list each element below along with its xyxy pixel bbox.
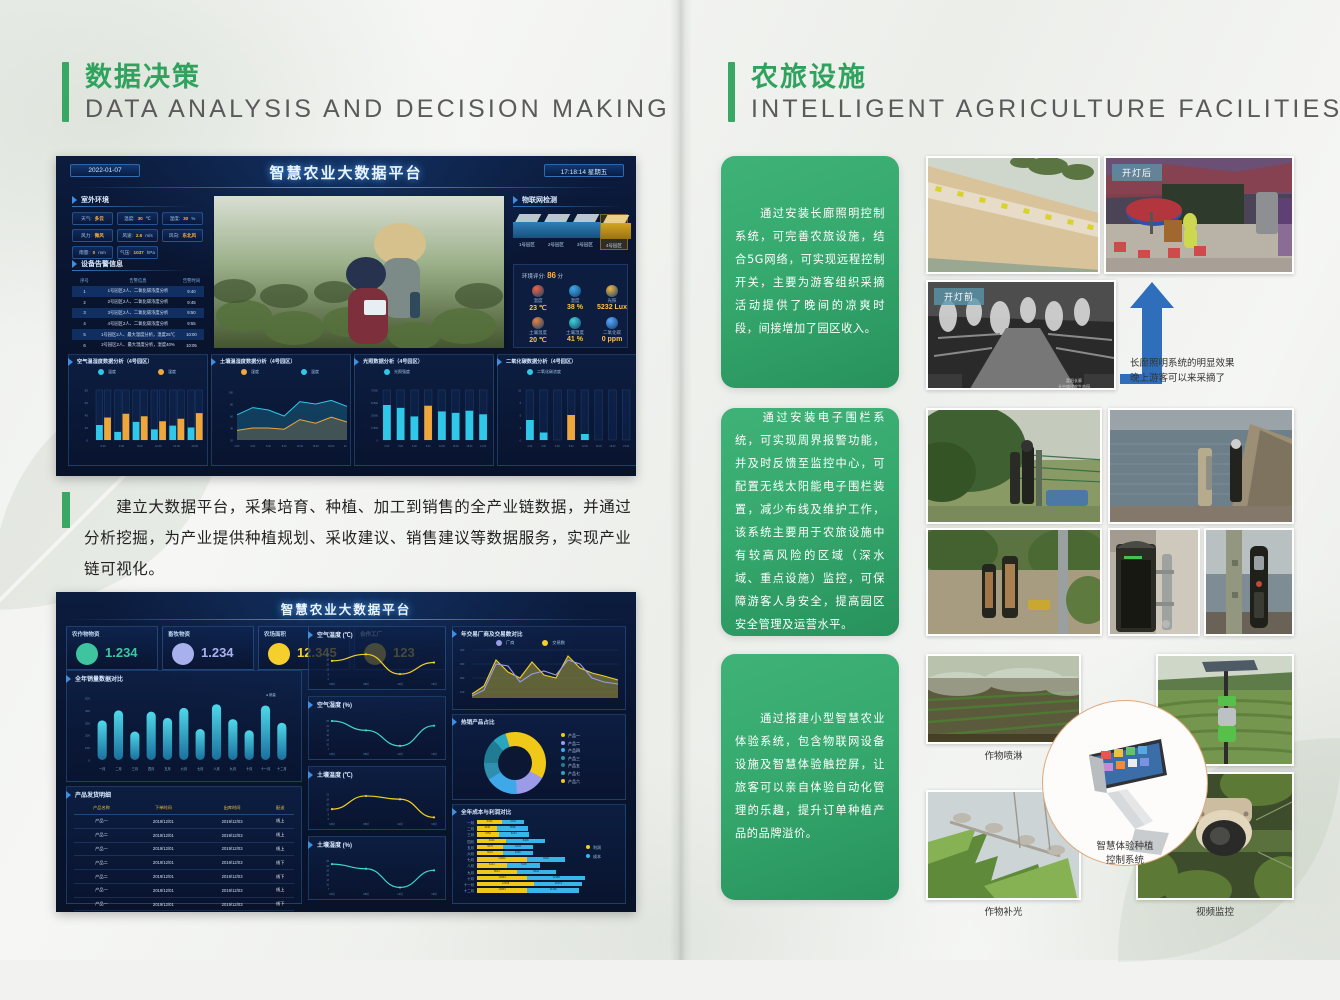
device-cube-icon <box>601 215 631 241</box>
legend-cost: 成本 <box>586 853 601 862</box>
legend-profit: 利润 <box>586 844 601 853</box>
livestock-icon <box>172 643 194 665</box>
detail-cell: 2019/12/01 <box>129 842 198 856</box>
accent-bar-right <box>728 62 735 122</box>
alarm-cell: 6 <box>72 340 97 351</box>
svg-text:18:00: 18:00 <box>328 445 335 448</box>
table-row[interactable]: 44号园区2人、二氧化碳浓度分析9:55 <box>72 318 204 329</box>
chart-svg-3: 0175003500052500700000:003:006:009:0012:… <box>358 378 490 456</box>
svg-text:9: 9 <box>328 673 330 676</box>
chart-legend-2: 湿度温度 <box>241 369 319 375</box>
env-score-value: 86 <box>547 271 556 280</box>
photo-fence-solar <box>926 528 1102 636</box>
svg-text:五月: 五月 <box>164 767 170 771</box>
svg-text:60: 60 <box>230 415 233 419</box>
cp-cost-bar: 12488 <box>527 876 585 880</box>
panel-title-vendors: 年交易厂商及交易数对比 <box>461 630 523 638</box>
alarm-cell: 4号园区2人、二氧化碳浓度分析 <box>97 318 179 329</box>
kpi-value: 1.234 <box>105 645 138 660</box>
outdoor-env-item: 温度:30℃ <box>117 212 158 225</box>
svg-text:4:00: 4:00 <box>119 444 125 448</box>
cp-category-label: 九月 <box>456 870 474 875</box>
cp-category-label: 十一月 <box>456 882 474 887</box>
farm-icon <box>268 643 290 665</box>
svg-text:15: 15 <box>326 803 329 806</box>
iot-device-1[interactable]: 1号园区 <box>513 214 541 248</box>
cp-profit-bar: 8614 <box>477 870 517 874</box>
svg-text:6:00: 6:00 <box>266 445 271 448</box>
detail-cell: 2019/12/01 <box>129 870 198 884</box>
svg-text:长中盛代农生态园: 长中盛代农生态园 <box>1058 383 1090 389</box>
table-row[interactable]: 产品一2019/12/012019/12/03线上 <box>74 842 294 856</box>
env-metric: 温度 23 ℃ <box>520 285 556 312</box>
svg-text:08时: 08时 <box>363 752 369 756</box>
detail-cell: 产品一 <box>74 897 129 911</box>
device-cube-icon <box>542 214 572 240</box>
svg-text:04时: 04时 <box>329 752 335 756</box>
svg-text:十月: 十月 <box>246 766 252 771</box>
paragraph-accent-bar <box>62 492 70 528</box>
iot-device-2[interactable]: 2号园区 <box>542 214 570 248</box>
svg-text:0:00: 0:00 <box>235 445 240 448</box>
svg-text:3:00: 3:00 <box>398 445 403 448</box>
env-metric-icon <box>569 285 581 297</box>
iot-device-3[interactable]: 3号园区 <box>571 214 599 248</box>
env-unit: % <box>191 216 195 221</box>
section-title-en: DATA ANALYSIS AND DECISION MAKING <box>85 93 670 127</box>
env-metric-value: 38 % <box>557 304 593 311</box>
svg-text:80: 80 <box>230 403 233 407</box>
outdoor-env-item: 湿度:30% <box>162 212 203 225</box>
env-value: 多云 <box>95 216 104 222</box>
facility-card-lighting-text: 通过安装长廊照明控制系统，可完善农旅设施，结合5G网络，可实现远程控制开关，主要… <box>735 203 885 341</box>
sales-chart-svg: 0100200300400500一月二月三月四月五月六月七月八月九月十月十一月十… <box>70 686 298 780</box>
left-paragraph-text: 建立大数据平台，采集培育、种植、加工到销售的全产业链数据，并通过分析挖掘，为产业… <box>84 492 637 585</box>
caption-kiosk-line2: 控制系统 <box>1045 854 1205 868</box>
svg-text:100: 100 <box>85 746 90 750</box>
dashboard-1[interactable]: 智慧农业大数据平台 2022-01-07 17:18:14 星期五 室外环境 天… <box>56 156 636 476</box>
donut-legend-item: 产品一 <box>561 732 580 740</box>
detail-cell: 2019/12/03 <box>198 856 267 870</box>
lighting-caption-line1: 长廊照明系统的明显效果 <box>1130 356 1310 371</box>
alarm-cell: 2 <box>72 297 97 308</box>
alarm-cell: 10:00 <box>179 329 204 340</box>
vendors-area-chart: 400300200100 <box>456 642 622 708</box>
svg-text:富阳长廊: 富阳长廊 <box>1066 377 1082 383</box>
detail-cell: 产品一 <box>74 842 129 856</box>
kpi-value: 1.234 <box>201 645 234 660</box>
env-metric: 湿度 38 % <box>557 285 593 311</box>
caption-kiosk: 智慧体验种植 控制系统 <box>1045 840 1205 869</box>
cp-category-label: 十二月 <box>456 888 474 893</box>
photo-fence-water <box>1108 408 1294 524</box>
alarm-cell: 10:05 <box>179 340 204 351</box>
photo-lights-off: 富阳长廊 长中盛代农生态园 开灯前 <box>926 280 1116 390</box>
hot-products-donut <box>484 732 546 794</box>
table-row[interactable]: 22号园区2人、二氧化碳浓度分析9:45 <box>72 297 204 308</box>
alarm-cell: 9:55 <box>179 318 204 329</box>
svg-text:12: 12 <box>326 808 329 811</box>
svg-text:0: 0 <box>520 440 522 443</box>
svg-text:21:00: 21:00 <box>344 445 347 448</box>
env-metric-value: 41 % <box>557 336 593 343</box>
svg-text:300: 300 <box>85 721 90 725</box>
cp-profit-bar: 12408 <box>477 882 534 886</box>
env-value: 30 <box>138 216 143 221</box>
svg-text:16时: 16时 <box>431 682 437 686</box>
svg-text:0:00: 0:00 <box>385 445 390 448</box>
device-label: 3号园区 <box>571 242 599 248</box>
donut-legend-item: 产品五 <box>561 762 580 770</box>
cp-cost-bar: 8408 <box>506 839 545 843</box>
vendors-legend: 厂商 交易数 <box>496 640 565 646</box>
svg-text:7: 7 <box>328 888 330 891</box>
env-metric: 光照 5232 Lux <box>594 285 630 311</box>
svg-text:一月: 一月 <box>99 767 105 771</box>
section-title-en-right: INTELLIGENT AGRICULTURE FACILITIES <box>751 93 1340 127</box>
svg-text:21:00: 21:00 <box>480 445 487 448</box>
detail-cell: 2019/12/03 <box>198 870 267 884</box>
panel-title-alarm: 设备告警信息 <box>81 259 123 269</box>
svg-text:3:00: 3:00 <box>250 445 255 448</box>
svg-text:6: 6 <box>328 818 330 821</box>
table-row[interactable]: 产品一2019/12/012019/12/03线上 <box>74 815 294 829</box>
svg-text:9:00: 9:00 <box>569 445 574 448</box>
svg-text:6:00: 6:00 <box>555 445 560 448</box>
caption-light: 作物补光 <box>926 904 1081 918</box>
crop-icon <box>76 643 98 665</box>
env-key: 风速: <box>122 233 132 239</box>
left-page: 数据决策 DATA ANALYSIS AND DECISION MAKING 智… <box>0 0 672 960</box>
cost-profit-legend: 利润 成本 <box>586 844 601 862</box>
accent-bar <box>62 62 69 122</box>
svg-text:12: 12 <box>326 668 329 671</box>
svg-text:10: 10 <box>518 390 521 393</box>
detail-col-header: 产品名称 <box>74 802 129 815</box>
svg-text:22: 22 <box>326 865 329 868</box>
env-value: 2.6 <box>136 233 142 238</box>
panel-title-hot-products: 热销产品占比 <box>461 718 495 726</box>
svg-text:18: 18 <box>326 658 329 661</box>
env-value: 1037 <box>134 250 144 255</box>
detail-cell: 产品一 <box>74 883 129 897</box>
detail-cell: 线下 <box>266 856 294 870</box>
svg-text:18:00: 18:00 <box>609 445 616 448</box>
env-key: 温度: <box>124 216 134 222</box>
svg-text:12:00: 12:00 <box>439 445 446 448</box>
detail-cell: 2019/12/01 <box>129 815 198 829</box>
panel-title-cost-profit: 全年成本与利润对比 <box>461 808 511 816</box>
svg-text:80: 80 <box>85 389 89 393</box>
detail-col-header: 配送 <box>266 802 294 815</box>
detail-cell: 线上 <box>266 842 294 856</box>
chart-title-3: 光照数据分析（4号园区） <box>363 358 423 365</box>
svg-text:12:00: 12:00 <box>155 444 162 448</box>
donut-legend-item: 产品七 <box>561 770 580 778</box>
device-cube-icon <box>513 214 543 240</box>
cp-profit-bar: 4436 <box>477 826 497 830</box>
right-page: 农旅设施 INTELLIGENT AGRICULTURE FACILITIES … <box>690 0 1340 960</box>
chart-svg-2: 204060801000:003:006:009:0012:0015:0018:… <box>215 378 347 456</box>
cp-profit-bar: 10800 <box>477 857 527 861</box>
svg-text:8:00: 8:00 <box>137 444 143 448</box>
cp-cost-bar: 6424 <box>503 845 533 849</box>
outdoor-env-item: 天气:多云 <box>72 212 113 225</box>
svg-text:15:00: 15:00 <box>312 445 319 448</box>
detail-col-header: 出库时间 <box>198 802 267 815</box>
env-metric-icon <box>532 317 544 329</box>
svg-text:21: 21 <box>326 653 329 656</box>
svg-text:7: 7 <box>328 748 330 751</box>
svg-text:13: 13 <box>326 879 329 882</box>
svg-text:12:00: 12:00 <box>297 445 304 448</box>
cp-cost-bar: 8424 <box>517 870 556 874</box>
chart-legend-4: 二氧化碳浓度 <box>527 369 561 375</box>
svg-text:16时: 16时 <box>431 752 437 756</box>
env-value: 0 <box>93 250 96 255</box>
detail-cell: 2019/12/03 <box>198 828 267 842</box>
cp-profit-bar: 6424 <box>477 863 507 867</box>
left-paragraph-block: 建立大数据平台，采集培育、种植、加工到销售的全产业链数据，并通过分析挖掘，为产业… <box>62 492 637 585</box>
svg-text:300: 300 <box>460 662 465 666</box>
legend-entry: 湿度 <box>158 369 176 375</box>
table-row[interactable]: 产品二2019/12/012019/12/03线下 <box>74 870 294 884</box>
svg-text:19: 19 <box>326 730 329 733</box>
svg-text:500: 500 <box>85 697 90 701</box>
photo-fence-orchard <box>926 408 1102 524</box>
panel-title-soil_temp: 土壤温度 (℃) <box>317 770 353 779</box>
svg-text:● 销量: ● 销量 <box>266 692 276 697</box>
legend-entry: 温度 <box>301 369 319 375</box>
env-metric-value: 0 ppm <box>594 336 630 343</box>
table-row[interactable]: 产品二2019/12/012019/12/03线下 <box>74 856 294 870</box>
env-key: 天气: <box>81 216 91 222</box>
table-row[interactable]: 产品二2019/12/012019/12/03线上 <box>74 828 294 842</box>
panel-title-air_temp: 空气温度 (℃) <box>317 630 353 639</box>
detail-cell: 线下 <box>266 897 294 911</box>
panel-title-air_humid: 空气湿度 (%) <box>317 700 352 709</box>
env-unit: mm <box>98 250 106 255</box>
cp-category-label: 二月 <box>456 826 474 831</box>
photo-led-strip <box>926 156 1100 274</box>
svg-text:17500: 17500 <box>371 427 379 430</box>
env-score-label: 环境评分: <box>522 274 546 280</box>
svg-text:9:00: 9:00 <box>282 445 287 448</box>
outdoor-env-item: 风向:东北风 <box>162 229 203 242</box>
svg-text:15:00: 15:00 <box>453 445 460 448</box>
svg-text:10: 10 <box>326 884 329 887</box>
alarm-col-header: 序号 <box>72 276 97 286</box>
alarm-cell: 1号园区2人、二氧化碳浓度分析 <box>97 286 179 297</box>
svg-text:十二月: 十二月 <box>277 766 287 771</box>
env-key: 湿度: <box>170 216 180 222</box>
svg-text:八月: 八月 <box>213 767 219 771</box>
env-metric: 二氧化碳 0 ppm <box>594 317 630 343</box>
detail-cell: 产品二 <box>74 856 129 870</box>
env-value: 东北风 <box>182 233 196 239</box>
facility-card-fence: 通过安装电子围栏系统，可实现周界报警功能，并及时反馈至监控中心，可配置无线太阳能… <box>721 408 899 636</box>
svg-text:04时: 04时 <box>329 682 335 686</box>
detail-col-header: 下单时间 <box>129 802 198 815</box>
cp-cost-bar: 6440 <box>503 851 533 855</box>
device-label: 2号园区 <box>542 242 570 248</box>
detail-cell: 2019/12/01 <box>129 883 198 897</box>
donut-legend-item: 产品二 <box>561 740 580 748</box>
svg-text:21: 21 <box>326 793 329 796</box>
alarm-cell: 1号园区2人、最大温度分析，温度25℃ <box>97 329 179 340</box>
svg-text:18:00: 18:00 <box>466 445 473 448</box>
dashboard-2[interactable]: 智慧农业大数据平台 农作物物资 1.234畜牧物资 1.234农场面积 12.3… <box>56 592 636 912</box>
svg-text:35000: 35000 <box>371 415 379 418</box>
svg-text:12时: 12时 <box>397 682 403 686</box>
alarm-cell: 9:45 <box>179 297 204 308</box>
svg-text:12时: 12时 <box>397 892 403 896</box>
cp-profit-bar: 4754 <box>477 832 499 836</box>
svg-text:8: 8 <box>520 402 522 405</box>
svg-text:20:00: 20:00 <box>191 444 198 448</box>
svg-text:10: 10 <box>326 744 329 747</box>
cp-category-label: 三月 <box>456 832 474 837</box>
legend-entry: 光照强度 <box>384 369 410 375</box>
table-row[interactable]: 11号园区2人、二氧化碳浓度分析9:40 <box>72 286 204 297</box>
svg-text:70000: 70000 <box>371 390 379 393</box>
chart-title-2: 土壤温湿度数据分析（4号园区） <box>220 358 296 365</box>
svg-text:16: 16 <box>326 874 329 877</box>
svg-text:九月: 九月 <box>230 766 236 771</box>
cp-category-label: 七月 <box>456 857 474 862</box>
env-unit: m/s <box>145 233 152 238</box>
table-row[interactable]: 51号园区2人、最大温度分析，温度25℃10:00 <box>72 329 204 340</box>
alarm-cell: 9:50 <box>179 308 204 319</box>
svg-text:400: 400 <box>85 709 90 713</box>
detail-cell: 2019/12/03 <box>198 883 267 897</box>
svg-text:5: 5 <box>520 415 522 418</box>
svg-text:二月: 二月 <box>115 767 121 771</box>
detail-cell: 线上 <box>266 828 294 842</box>
alarm-cell: 3号园区2人、二氧化碳浓度分析 <box>97 308 179 319</box>
cp-cost-bar: 7348 <box>507 863 541 867</box>
alarm-cell: 4 <box>72 318 97 329</box>
greenhouse-photo <box>214 196 504 348</box>
cp-cost-bar: 8336 <box>527 857 565 861</box>
env-key: 风力: <box>81 233 91 239</box>
legend-entry: 温度 <box>98 369 116 375</box>
cp-cost-bar: 4744 <box>502 820 524 824</box>
svg-text:18: 18 <box>326 798 329 801</box>
iot-device-4[interactable]: 4号园区 <box>600 214 628 250</box>
svg-text:25: 25 <box>326 720 329 723</box>
svg-text:20: 20 <box>230 439 233 443</box>
svg-text:3:00: 3:00 <box>541 445 546 448</box>
kpi-label: 农场面积 <box>264 630 286 638</box>
svg-text:6:00: 6:00 <box>412 445 417 448</box>
svg-text:0:00: 0:00 <box>101 444 107 448</box>
cp-category-label: 一月 <box>456 820 474 825</box>
cp-category-label: 五月 <box>456 845 474 850</box>
photo-fence-gate <box>1108 528 1200 636</box>
mini-chart-air_temp: 691215182104时08时12时16时 <box>314 643 442 687</box>
svg-text:15:00: 15:00 <box>596 445 603 448</box>
cp-profit-bar: 10943 <box>477 876 527 880</box>
caption-kiosk-line1: 智慧体验种植 <box>1045 840 1205 854</box>
svg-text:200: 200 <box>85 734 90 738</box>
svg-text:52500: 52500 <box>371 402 379 405</box>
chart-svg-1: 0204060800:004:008:0012:0016:0020:00 <box>72 378 204 456</box>
kpi-card-1[interactable]: 农作物物资 1.234 <box>66 626 158 670</box>
svg-text:3: 3 <box>520 427 522 430</box>
donut-legend-item: 产品三 <box>561 755 580 763</box>
alarm-cell: 2号园区2人、二氧化碳浓度分析 <box>97 297 179 308</box>
photo-lights-on: 开灯后 <box>1104 156 1294 274</box>
detail-cell: 产品二 <box>74 828 129 842</box>
kpi-label: 畜牧物资 <box>168 630 190 638</box>
detail-cell: 2019/12/01 <box>129 856 198 870</box>
env-metric-icon <box>532 285 544 297</box>
env-metric-value: 20 ℃ <box>520 336 556 344</box>
kpi-card-2[interactable]: 畜牧物资 1.234 <box>162 626 254 670</box>
alarm-cell: 9:40 <box>179 286 204 297</box>
svg-text:0: 0 <box>88 759 90 763</box>
detail-cell: 2019/12/03 <box>198 897 267 911</box>
env-metric-icon <box>606 317 618 329</box>
panel-title-soil_humid: 土壤湿度 (%) <box>317 840 352 849</box>
svg-text:三月: 三月 <box>132 767 138 771</box>
detail-cell: 产品一 <box>74 815 129 829</box>
book-spine <box>670 0 692 960</box>
section-title-cn: 数据决策 <box>85 62 670 93</box>
donut-legend-item: 产品六 <box>561 778 580 786</box>
sales-bar-chart: 0100200300400500一月二月三月四月五月六月七月八月九月十月十一月十… <box>70 686 298 780</box>
photo-fence-post <box>1204 528 1294 636</box>
donut-legend-item: 产品四 <box>561 747 580 755</box>
env-key: 气压: <box>120 250 130 256</box>
table-row[interactable]: 产品一2019/12/012019/12/03线上 <box>74 883 294 897</box>
detail-cell: 2019/12/01 <box>129 897 198 911</box>
env-metric-icon <box>606 285 618 297</box>
legend-vendors-2: 交易数 <box>542 640 565 646</box>
cp-cost-bar: 10473 <box>534 882 582 886</box>
svg-text:20: 20 <box>85 426 89 430</box>
hot-products-legend: 产品一产品二产品四产品三产品五产品七产品六 <box>561 732 580 785</box>
panel-title-iot: 物联网检测 <box>522 195 557 205</box>
svg-text:12时: 12时 <box>397 822 403 826</box>
legend-vendors-1: 厂商 <box>496 640 514 646</box>
env-value: 微风 <box>95 233 104 239</box>
cp-profit-bar: 5624 <box>477 851 503 855</box>
svg-text:40: 40 <box>230 427 233 431</box>
env-unit: ℃ <box>146 216 151 222</box>
facility-card-lighting: 通过安装长廊照明控制系统，可完善农旅设施，结合5G网络，可实现远程控制开关，主要… <box>721 156 899 388</box>
env-metric: 土壤湿度 41 % <box>557 317 593 343</box>
tag-lights-on: 开灯后 <box>1112 164 1162 181</box>
outdoor-env-item: 风速:2.6m/s <box>117 229 158 242</box>
chart-title-1: 空气温湿度数据分析（4号园区） <box>77 358 153 365</box>
table-row[interactable]: 33号园区2人、二氧化碳浓度分析9:50 <box>72 308 204 319</box>
lighting-effect-caption: 长廊照明系统的明显效果 晚上游客可以来采摘了 <box>1130 356 1310 386</box>
table-row[interactable]: 产品一2019/12/012019/12/03线下 <box>74 897 294 911</box>
table-row[interactable]: 62号园区2人、最大湿度分析，湿度40%10:05 <box>72 340 204 351</box>
svg-text:25: 25 <box>326 860 329 863</box>
svg-text:0:00: 0:00 <box>528 445 533 448</box>
svg-text:08时: 08时 <box>363 892 369 896</box>
shipment-table[interactable]: 产品名称下单时间出库时间配送产品一2019/12/012019/12/03线上产… <box>74 802 294 911</box>
detail-cell: 2019/12/03 <box>198 815 267 829</box>
env-metric-value: 5232 Lux <box>594 304 630 311</box>
panel-title-detail: 产品发货明细 <box>75 790 111 799</box>
chart-legend-3: 光照强度 <box>384 369 410 375</box>
alarm-table[interactable]: 序号告警信息告警时间11号园区2人、二氧化碳浓度分析9:4022号园区2人、二氧… <box>72 276 204 351</box>
cp-profit-bar: 5676 <box>477 845 503 849</box>
